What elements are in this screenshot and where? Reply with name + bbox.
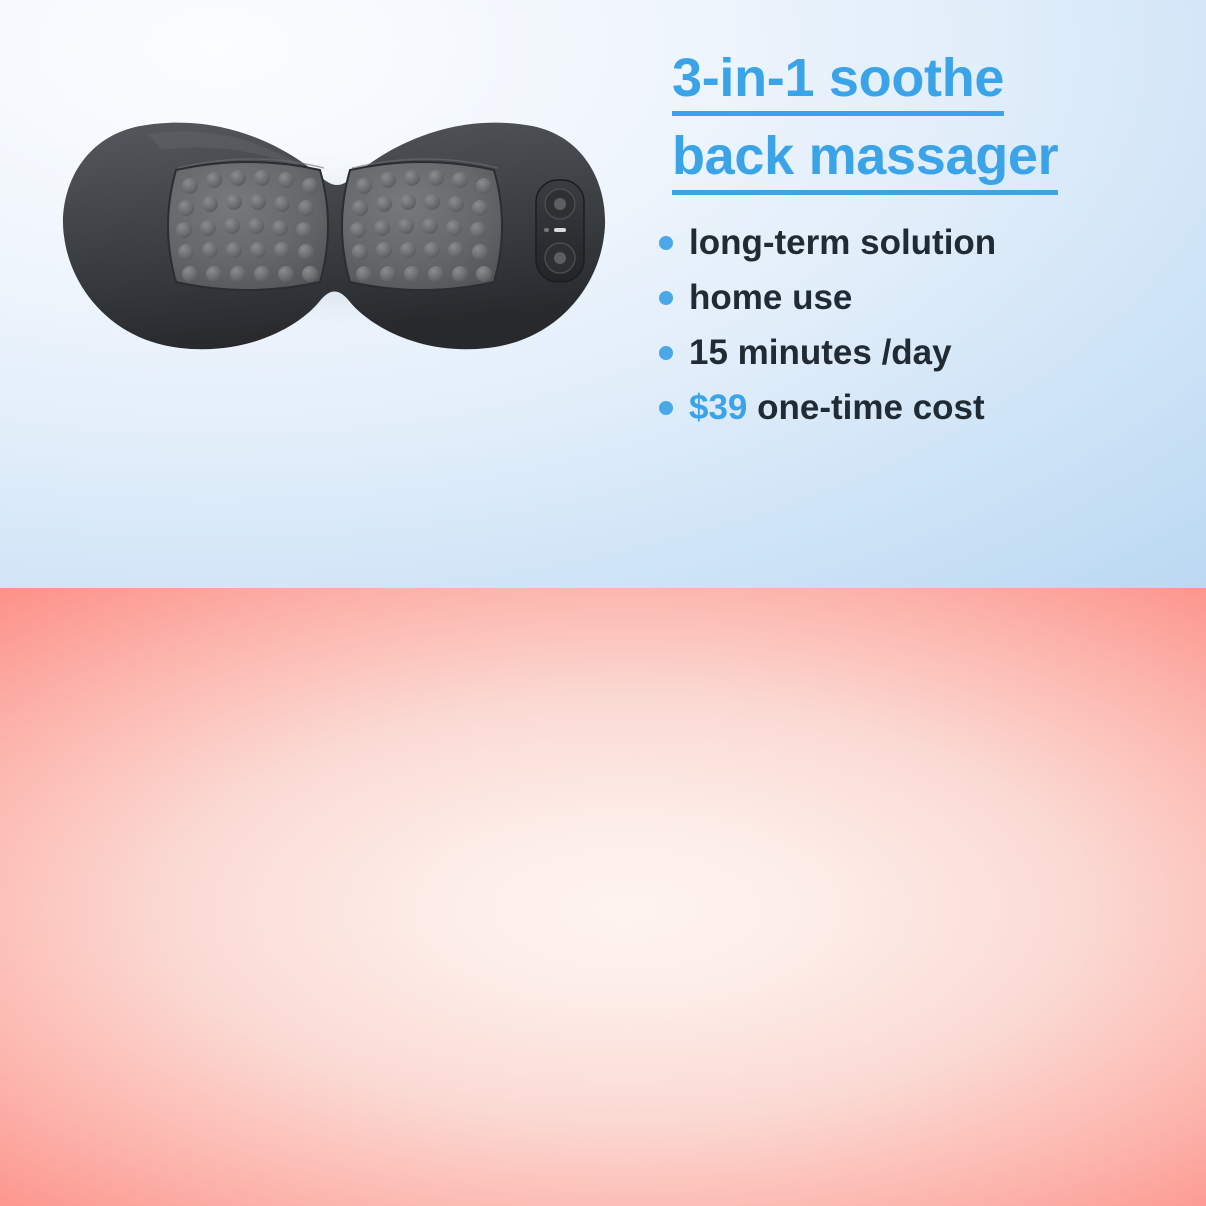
product-benefits-list: long-term solution home use 15 minutes /… [655,215,996,435]
product-heading-line-2: back massager [672,126,1058,194]
product-heading-line-1: 3-in-1 soothe [672,48,1004,116]
chiropractor-panel: chiropractors temporary relief appointme… [0,588,1206,1206]
list-item-label: 15 minutes /day [689,333,952,372]
product-price: $39 [689,388,747,427]
massager-control-panel [536,180,584,282]
bullet-dot-icon [659,346,673,360]
product-price-suffix: one-time cost [747,388,984,427]
list-item: long-term solution [655,215,996,270]
bullet-dot-icon [659,236,673,250]
product-heading: 3-in-1 soothe back massager [672,48,1172,195]
list-item-label: long-term solution [689,223,996,262]
list-item-price: $39 one-time cost [655,380,996,435]
bullet-dot-icon [659,291,673,305]
massager-illustration [58,118,608,356]
list-item: 15 minutes /day [655,325,996,380]
product-panel: 3-in-1 soothe back massager long-term so… [0,0,1206,588]
list-item-label: home use [689,278,852,317]
product-image-massager [52,108,614,376]
comparison-infographic: 3-in-1 soothe back massager long-term so… [0,0,1206,1206]
list-item: home use [655,270,996,325]
bullet-dot-icon [659,401,673,415]
